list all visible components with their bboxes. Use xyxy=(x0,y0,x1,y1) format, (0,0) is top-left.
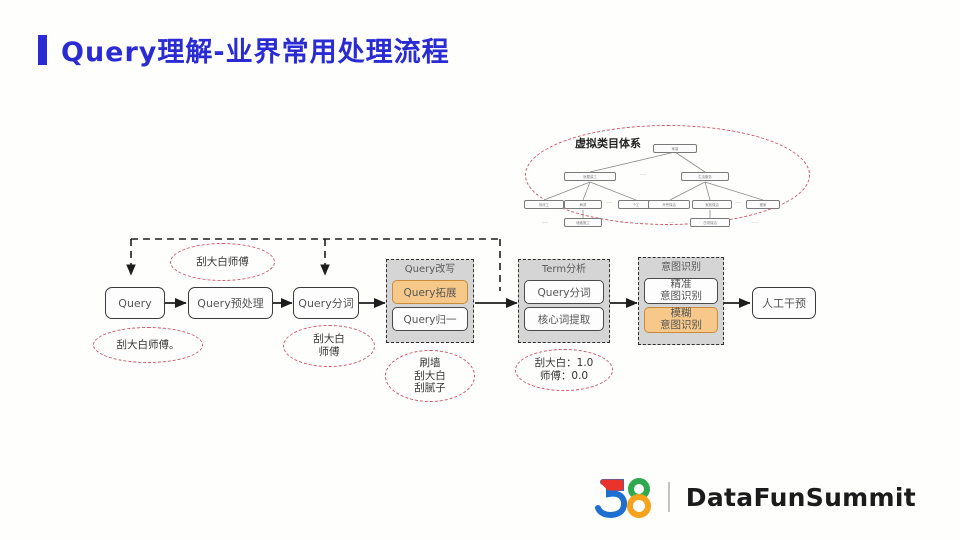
annotation-segment: 刮大白 师傅 xyxy=(283,325,375,367)
group-item-query-expansion[interactable]: Query拓展 xyxy=(392,280,468,304)
group-item-core-word-extract[interactable]: 核心词提取 xyxy=(524,307,604,331)
annotation-rewrite: 刷墙 刮大白 刮腻子 xyxy=(385,350,475,402)
taxonomy-ellipsis-4: … xyxy=(620,218,626,225)
annotation-query-line-0: 刮大白师傅。 xyxy=(117,339,180,352)
node-query-preprocess[interactable]: Query预处理 xyxy=(188,287,273,319)
taxonomy-node-leaf-r1: 家政保洁 xyxy=(692,200,732,209)
group-item-fuzzy-intent-line-1: 意图识别 xyxy=(660,320,702,332)
annotation-segment-line-0: 刮大白 xyxy=(313,333,345,346)
logo-divider xyxy=(668,482,670,512)
annotation-term-line-1: 师傅：0.0 xyxy=(540,370,588,383)
logo-58-icon xyxy=(594,476,652,518)
taxonomy-node-root: 家装 xyxy=(653,144,697,153)
annotation-rewrite-line-2: 刮腻子 xyxy=(414,382,446,395)
taxonomy-ellipsis-0: … xyxy=(606,198,612,205)
taxonomy-node-leaf-r2: 搬家 xyxy=(746,200,780,209)
taxonomy-ellipsis-5: … xyxy=(668,218,674,225)
group-item-precise-intent[interactable]: 精准 意图识别 xyxy=(644,278,718,304)
taxonomy-node-subleaf-l: 墙面施工 xyxy=(564,218,602,227)
group-intent-recognition[interactable]: 意图识别 精准 意图识别 模糊 意图识别 xyxy=(638,257,724,345)
taxonomy-node-leaf-r0: 开荒保洁 xyxy=(648,200,690,209)
page-title: Query理解-业界常用处理流程 xyxy=(38,30,450,69)
node-manual-intervention[interactable]: 人工干预 xyxy=(752,287,816,319)
annotation-term-line-0: 刮大白：1.0 xyxy=(535,357,594,370)
group-intent-recognition-title: 意图识别 xyxy=(639,260,723,275)
node-query-segment[interactable]: Query分词 xyxy=(293,287,359,319)
group-query-rewrite[interactable]: Query改写 Query拓展 Query归一 xyxy=(386,259,474,343)
group-item-term-segment[interactable]: Query分词 xyxy=(524,280,604,304)
annotation-rewrite-line-1: 刮大白 xyxy=(414,370,446,383)
group-term-analysis-title: Term分析 xyxy=(519,262,609,277)
group-term-analysis[interactable]: Term分析 Query分词 核心词提取 xyxy=(518,259,610,343)
annotation-segment-line-1: 师傅 xyxy=(319,346,340,359)
brand-name: DataFunSummit xyxy=(686,483,916,512)
taxonomy-node-leaf-l0: 拆改工 xyxy=(524,200,564,209)
taxonomy-node-mid-1: 生活服务 xyxy=(681,172,729,181)
taxonomy-ellipsis-3: … xyxy=(542,218,548,225)
annotation-top: 刮大白师傅 xyxy=(170,243,275,281)
process-flow-diagram: 虚拟类目体系 家装 房屋装工 生活服务 拆改工 刷漆 个工 墙面施工 开荒保洁 … xyxy=(0,85,960,475)
taxonomy-ellipsis-1: … xyxy=(735,198,741,205)
node-query[interactable]: Query xyxy=(105,287,165,319)
connector-layer xyxy=(0,85,960,475)
taxonomy-tree: 虚拟类目体系 家装 房屋装工 生活服务 拆改工 刷漆 个工 墙面施工 开荒保洁 … xyxy=(520,130,810,235)
annotation-top-line-0: 刮大白师傅 xyxy=(196,256,249,269)
title-label: Query理解-业界常用处理流程 xyxy=(61,30,450,69)
taxonomy-node-leaf-l1: 刷漆 xyxy=(564,200,602,209)
taxonomy-ellipsis-6: … xyxy=(752,218,758,225)
group-query-rewrite-title: Query改写 xyxy=(387,262,473,277)
taxonomy-node-subleaf-r: 日常保洁 xyxy=(690,218,730,227)
logo-58-mark xyxy=(594,476,652,518)
taxonomy-node-mid-0: 房屋装工 xyxy=(564,172,616,181)
title-accent-bar xyxy=(38,35,47,65)
taxonomy-ellipsis-2: … xyxy=(640,170,646,177)
group-item-fuzzy-intent[interactable]: 模糊 意图识别 xyxy=(644,307,718,333)
annotation-query: 刮大白师傅。 xyxy=(93,327,203,363)
footer-branding: DataFunSummit xyxy=(594,476,916,518)
annotation-rewrite-line-0: 刷墙 xyxy=(420,357,441,370)
group-item-query-normalize[interactable]: Query归一 xyxy=(392,307,468,331)
annotation-term: 刮大白：1.0 师傅：0.0 xyxy=(515,349,613,391)
group-item-precise-intent-line-1: 意图识别 xyxy=(660,291,702,303)
